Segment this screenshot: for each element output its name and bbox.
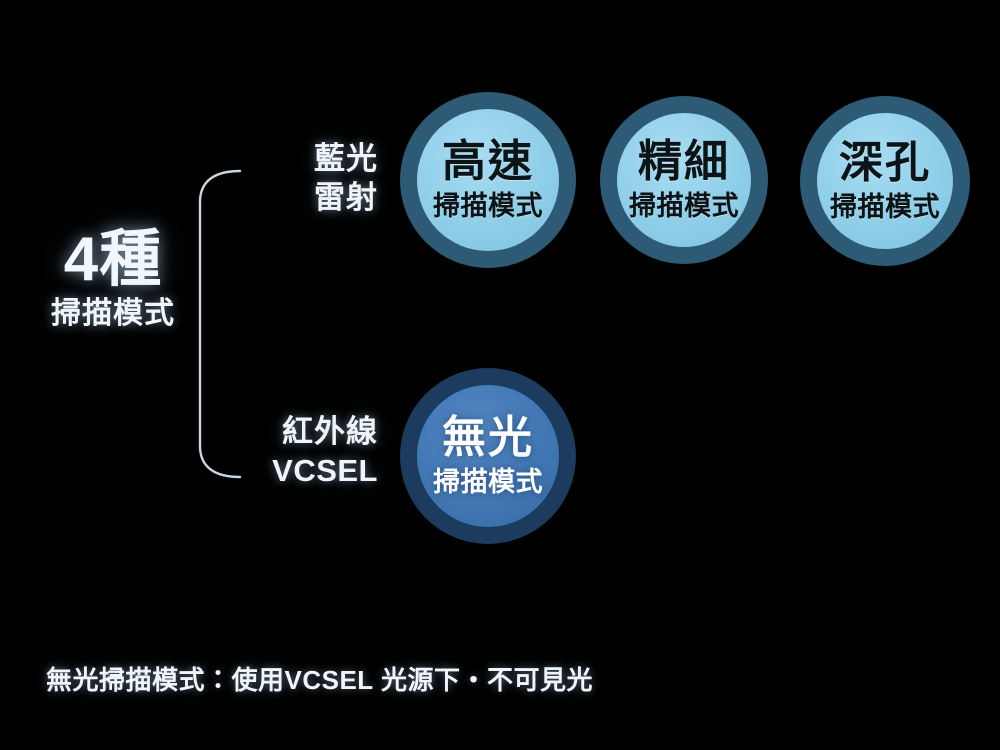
mode-circle-deep-hole[interactable]: 深孔 掃描模式 bbox=[800, 96, 970, 266]
mode-title: 高速 bbox=[442, 140, 534, 184]
mode-subtitle: 掃描模式 bbox=[830, 194, 940, 221]
mode-count-value: 4種 bbox=[18, 228, 208, 291]
source-label-blue-laser: 藍光 雷射 bbox=[198, 139, 378, 217]
source-label-line1: 藍光 bbox=[198, 139, 378, 178]
mode-circle-no-light[interactable]: 無光 掃描模式 bbox=[400, 368, 576, 544]
mode-subtitle: 掃描模式 bbox=[433, 193, 543, 220]
mode-circle-fine[interactable]: 精細 掃描模式 bbox=[600, 96, 768, 264]
mode-subtitle: 掃描模式 bbox=[629, 193, 739, 220]
mode-title: 深孔 bbox=[839, 141, 931, 185]
footnote-text: 無光掃描模式：使用VCSEL 光源下・不可見光 bbox=[46, 660, 593, 697]
slide-canvas: 4種 掃描模式 藍光 雷射 紅外線 VCSEL 高速 掃描模式 精細 掃描模式 … bbox=[0, 0, 1000, 750]
mode-count-label: 掃描模式 bbox=[18, 297, 208, 330]
summary-block: 4種 掃描模式 bbox=[18, 228, 208, 330]
mode-title: 精細 bbox=[638, 140, 730, 184]
source-label-line1: 紅外線 bbox=[188, 412, 378, 451]
mode-subtitle: 掃描模式 bbox=[433, 469, 543, 496]
mode-circle-fast[interactable]: 高速 掃描模式 bbox=[400, 92, 576, 268]
source-label-line2: 雷射 bbox=[198, 178, 378, 217]
source-label-infrared-vcsel: 紅外線 VCSEL bbox=[188, 412, 378, 490]
source-label-line2: VCSEL bbox=[188, 451, 378, 490]
mode-title: 無光 bbox=[442, 416, 534, 460]
